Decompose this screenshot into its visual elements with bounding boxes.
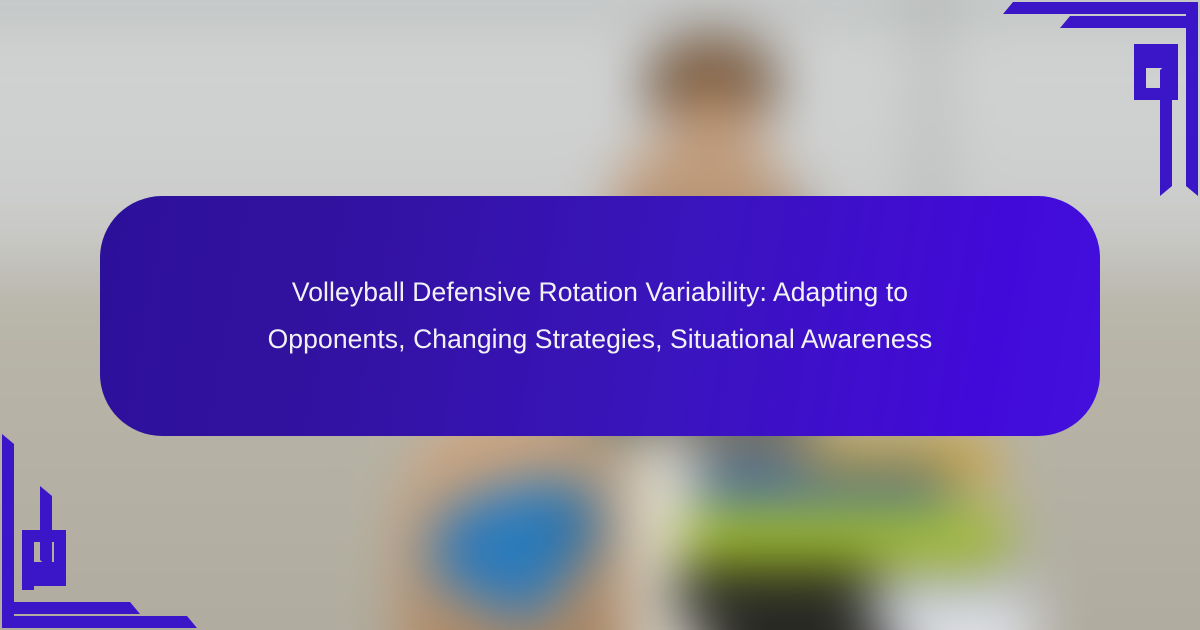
photo-pale-patch-2 — [898, 616, 1034, 630]
photo-stripe-green — [681, 511, 1007, 564]
title-banner: Volleyball Defensive Rotation Variabilit… — [100, 196, 1100, 436]
photo-stripe-blue — [695, 469, 953, 503]
page-title: Volleyball Defensive Rotation Variabilit… — [220, 269, 980, 363]
photo-wall-seam — [0, 0, 1200, 12]
banner-canvas: Volleyball Defensive Rotation Variabilit… — [0, 0, 1200, 630]
